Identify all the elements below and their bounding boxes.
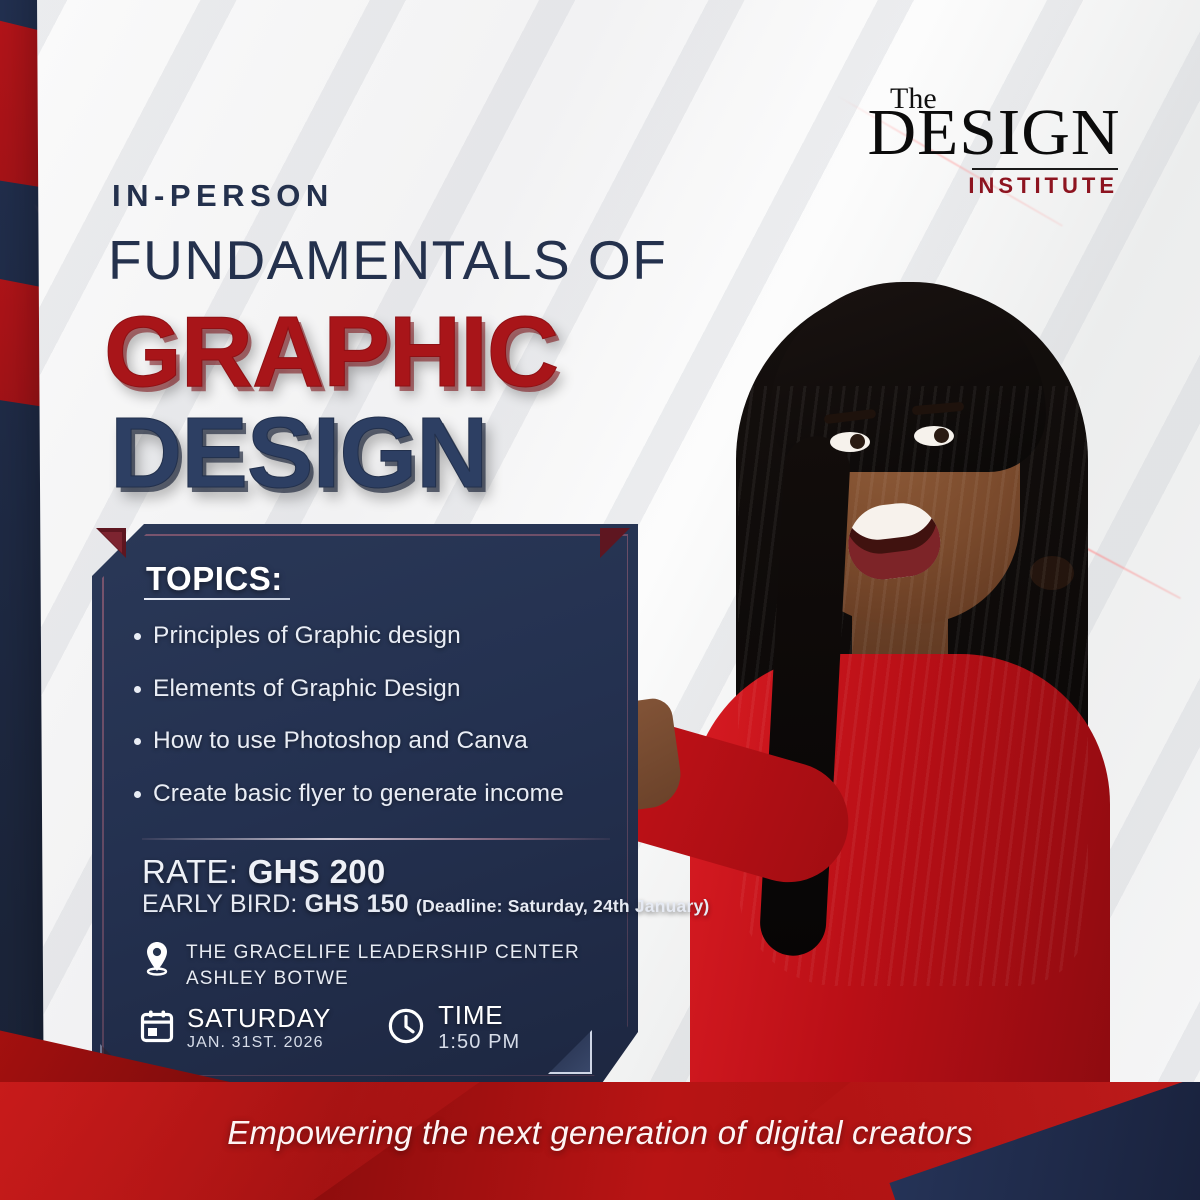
eye-left (830, 432, 870, 452)
topics-heading: TOPICS: (146, 560, 283, 598)
title-line-1: FUNDAMENTALS OF (108, 228, 667, 292)
eye-right (914, 426, 954, 446)
topics-list: Principles of Graphic design Elements of… (134, 624, 614, 834)
clock-icon (387, 1007, 425, 1050)
section-divider (142, 838, 610, 840)
bullet-dot (134, 686, 141, 693)
event-day: SATURDAY (187, 1005, 331, 1032)
venue-row: THE GRACELIFE LEADERSHIP CENTER ASHLEY B… (142, 940, 580, 992)
venue-text: THE GRACELIFE LEADERSHIP CENTER ASHLEY B… (186, 940, 580, 992)
time-label: TIME (438, 1002, 520, 1029)
location-pin-icon (142, 940, 172, 981)
brand-logo: The DESIGN INSTITUTE (868, 84, 1118, 199)
calendar-icon (140, 1009, 174, 1048)
early-bird-value: GHS 150 (305, 890, 409, 918)
bullet-dot (134, 738, 141, 745)
time-text: TIME 1:50 PM (438, 1002, 520, 1054)
logo-design-text: DESIGN (866, 102, 1121, 165)
date-block: SATURDAY JAN. 31ST. 2026 (140, 1005, 331, 1052)
list-item: Elements of Graphic Design (134, 677, 614, 702)
datetime-row: SATURDAY JAN. 31ST. 2026 TIME 1:50 PM (140, 1002, 520, 1054)
title-line-2: GRAPHIC (104, 295, 558, 410)
list-item-label: Principles of Graphic design (153, 624, 461, 649)
early-bird-deadline: (Deadline: Saturday, 24th January) (416, 896, 709, 916)
rate-line: RATE: GHS 200 (142, 853, 386, 891)
rate-label: RATE: (142, 853, 238, 890)
list-item: Principles of Graphic design (134, 624, 614, 649)
early-bird-label: EARLY BIRD: (142, 890, 298, 918)
rate-value: GHS 200 (248, 853, 386, 890)
event-date: JAN. 31ST. 2026 (187, 1034, 331, 1052)
kicker-label: IN-PERSON (112, 178, 334, 214)
early-bird-line: EARLY BIRD: GHS 150 (Deadline: Saturday,… (142, 890, 709, 919)
corner-accent-top-right (600, 528, 630, 558)
title-line-3: DESIGN (110, 396, 487, 511)
time-block: TIME 1:50 PM (387, 1002, 520, 1054)
venue-line-1: THE GRACELIFE LEADERSHIP CENTER (186, 942, 580, 963)
date-text: SATURDAY JAN. 31ST. 2026 (187, 1005, 331, 1052)
topics-heading-underline (144, 598, 290, 600)
logo-institute-text: INSTITUTE (868, 173, 1118, 199)
venue-line-2: ASHLEY BOTWE (186, 968, 349, 989)
list-item-label: How to use Photoshop and Canva (153, 729, 528, 754)
bullet-dot (134, 633, 141, 640)
tagline: Empowering the next generation of digita… (0, 1114, 1200, 1152)
list-item: Create basic flyer to generate income (134, 782, 614, 807)
footer-band: Empowering the next generation of digita… (0, 1082, 1200, 1200)
bullet-dot (134, 791, 141, 798)
corner-accent-top-left-inner (101, 532, 122, 553)
list-item: How to use Photoshop and Canva (134, 729, 614, 754)
presenter-photo (620, 236, 1180, 1096)
list-item-label: Create basic flyer to generate income (153, 782, 564, 807)
time-value: 1:50 PM (438, 1031, 520, 1054)
event-flyer: The DESIGN INSTITUTE IN-PERSON FUNDAMENT… (0, 0, 1200, 1200)
list-item-label: Elements of Graphic Design (153, 677, 461, 702)
